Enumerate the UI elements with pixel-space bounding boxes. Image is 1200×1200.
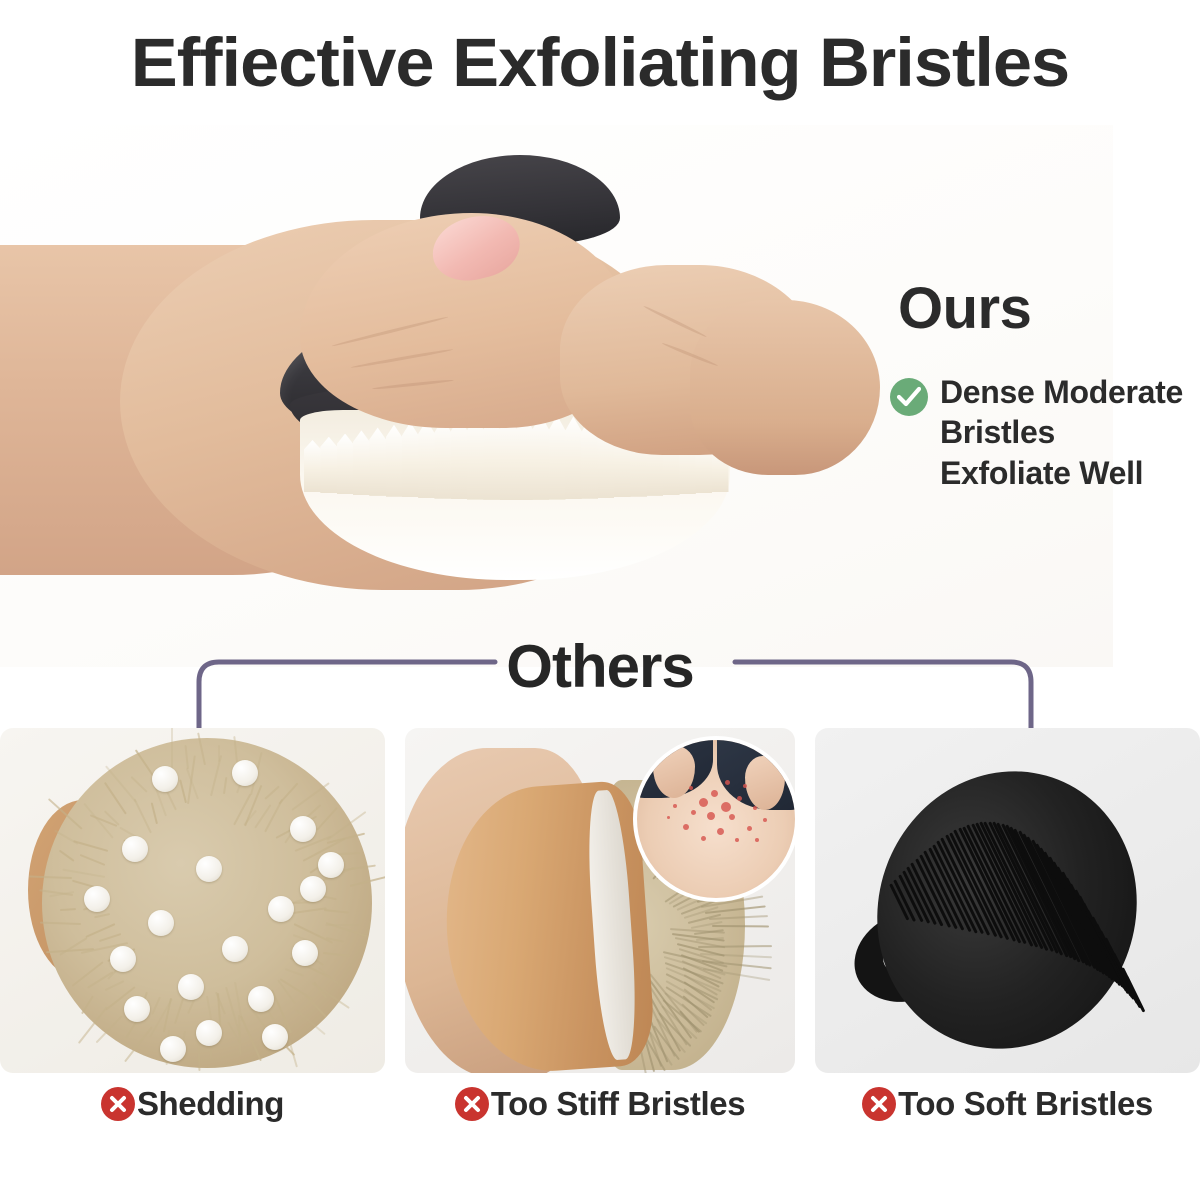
massage-nub	[178, 974, 204, 1000]
hero-section: Ours Dense Moderate Bristles Exfoliate W…	[0, 125, 1200, 670]
irritation-spot	[717, 828, 724, 835]
ours-benefit-row: Dense Moderate Bristles Exfoliate Well	[890, 372, 1190, 493]
irritation-spot	[737, 796, 742, 801]
massage-nub	[290, 816, 316, 842]
page-title-bar: Effiective Exfoliating Bristles	[0, 0, 1200, 125]
irritation-spot	[747, 826, 752, 831]
label-too-soft: Too Soft Bristles	[815, 1078, 1200, 1130]
irritation-spot	[667, 816, 670, 819]
massage-nub	[222, 936, 248, 962]
irritation-spot	[711, 790, 718, 797]
bristle-tuft	[320, 437, 337, 493]
irritation-spot	[701, 836, 706, 841]
massage-nub	[268, 896, 294, 922]
comparison-labels: Shedding Too Stiff Bristles Too Soft Bri…	[0, 1078, 1200, 1148]
massage-nub	[124, 996, 150, 1022]
irritation-spot	[763, 818, 767, 822]
massage-nub	[232, 760, 258, 786]
bristle-tuft	[353, 430, 370, 495]
others-section: Others	[0, 620, 1200, 740]
label-shedding: Shedding	[0, 1078, 385, 1130]
irritation-spot	[755, 838, 759, 842]
irritation-spot	[729, 814, 735, 820]
label-text: Shedding	[137, 1085, 284, 1123]
panel-soft-bristles[interactable]	[815, 728, 1200, 1073]
irritation-spot	[691, 810, 696, 815]
hand-finger-lower	[690, 300, 880, 475]
stiff-bristle	[712, 925, 769, 927]
x-circle-icon	[862, 1087, 896, 1121]
massage-nub	[196, 856, 222, 882]
ours-benefit-text: Dense Moderate Bristles Exfoliate Well	[940, 372, 1190, 493]
massage-nub	[84, 886, 110, 912]
massage-nub	[292, 940, 318, 966]
bristle-tuft	[418, 420, 435, 498]
massage-nub	[318, 852, 344, 878]
others-heading: Others	[0, 632, 1200, 701]
bristle-tuft	[549, 415, 566, 499]
irritation-spot	[673, 804, 677, 808]
ours-heading: Ours	[898, 280, 1190, 338]
comparison-panels	[0, 728, 1200, 1073]
irritation-spot	[725, 780, 730, 785]
check-circle-icon	[890, 378, 928, 416]
irritation-spot	[721, 802, 731, 812]
massage-nub	[300, 876, 326, 902]
bristle-tuft	[402, 422, 419, 497]
massage-nub	[196, 1020, 222, 1046]
bristle-tuft	[565, 416, 582, 499]
irritation-spot	[683, 824, 689, 830]
bristle-tuft	[304, 440, 321, 492]
silicone-brush-head	[838, 728, 1175, 1073]
bristle-tuft	[532, 414, 549, 499]
label-text: Too Stiff Bristles	[491, 1085, 745, 1123]
x-circle-icon	[101, 1087, 135, 1121]
label-too-stiff: Too Stiff Bristles	[405, 1078, 795, 1130]
bristle-tuft	[451, 416, 468, 499]
massage-nub	[110, 946, 136, 972]
massage-nub	[148, 910, 174, 936]
label-text: Too Soft Bristles	[898, 1085, 1153, 1123]
ours-block: Ours Dense Moderate Bristles Exfoliate W…	[890, 280, 1190, 493]
massage-nub	[248, 986, 274, 1012]
irritation-spot	[753, 806, 757, 810]
bristle-tuft	[434, 418, 451, 499]
massage-nub	[122, 836, 148, 862]
x-circle-icon	[455, 1087, 489, 1121]
irritation-spot	[699, 798, 708, 807]
irritated-skin-inset	[633, 736, 795, 902]
massage-nub	[262, 1024, 288, 1050]
irritation-spot	[689, 786, 693, 790]
panel-stiff-bristles[interactable]	[405, 728, 795, 1073]
irritation-spot	[707, 812, 715, 820]
irritation-spot	[743, 784, 747, 788]
bristle-tuft	[337, 434, 354, 494]
irritation-spot	[735, 838, 739, 842]
page-title: Effiective Exfoliating Bristles	[131, 23, 1069, 102]
massage-nub	[160, 1036, 186, 1062]
bristle-tuft	[386, 425, 403, 497]
bristle-tuft	[369, 427, 386, 495]
panel-shedding[interactable]	[0, 728, 385, 1073]
massage-nub	[152, 766, 178, 792]
